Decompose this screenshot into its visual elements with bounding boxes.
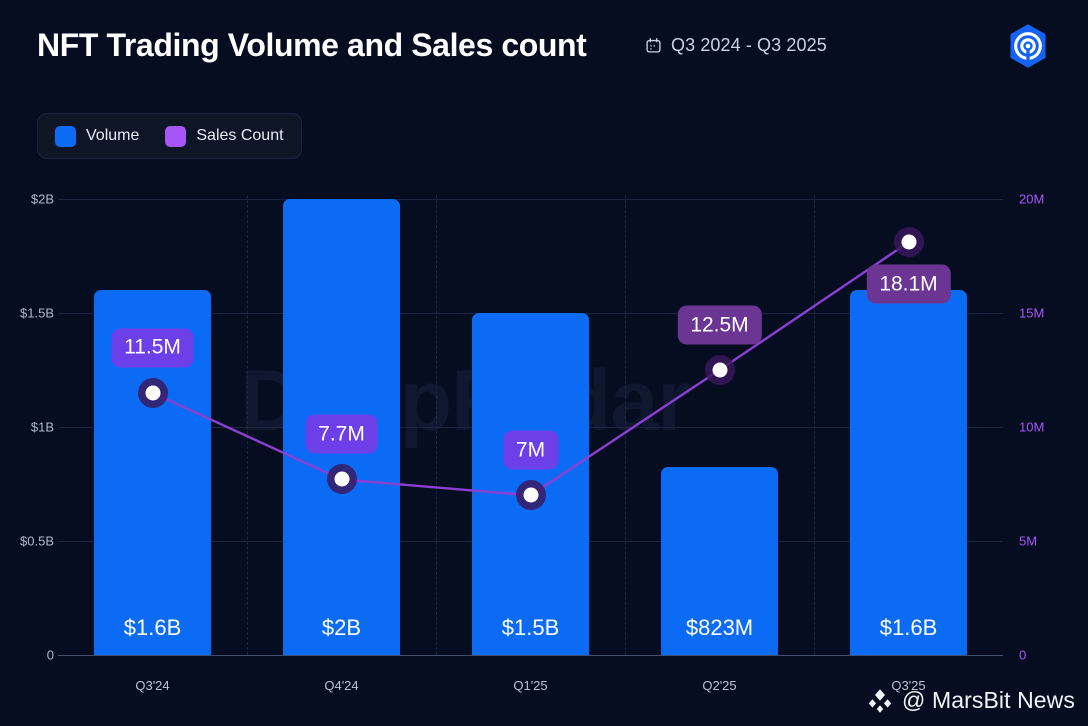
sales-count-point-label: 12.5M	[677, 306, 761, 345]
x-axis-label: Q3'24	[135, 678, 169, 693]
y-axis-left-tick: $1.5B	[20, 306, 54, 321]
line-marker-halo	[705, 355, 735, 385]
legend-item-sales-count[interactable]: Sales Count	[165, 126, 283, 147]
marsbit-diamond-icon	[866, 686, 894, 714]
y-axis-right-tick: 0	[1019, 648, 1026, 663]
chart-header: NFT Trading Volume and Sales count Q3 20…	[0, 0, 1088, 96]
column-separator	[814, 195, 815, 655]
sales-count-point-label: 11.5M	[111, 328, 194, 367]
x-axis-label: Q2'25	[702, 678, 736, 693]
legend-item-volume[interactable]: Volume	[55, 126, 139, 147]
bar-volume[interactable]	[94, 290, 211, 655]
x-axis-label: Q4'24	[324, 678, 358, 693]
bar-volume[interactable]	[661, 467, 778, 655]
sales-count-point-label: 7M	[503, 431, 558, 470]
line-series-sales-count	[0, 0, 1088, 726]
line-marker-halo	[138, 378, 168, 408]
column-separator	[247, 195, 248, 655]
date-range[interactable]: Q3 2024 - Q3 2025	[645, 35, 827, 56]
legend-label-sales-count: Sales Count	[196, 127, 283, 145]
gridline	[58, 541, 1003, 542]
background-watermark: DappRadar	[240, 352, 690, 451]
date-range-label: Q3 2024 - Q3 2025	[671, 35, 827, 56]
line-marker-halo	[516, 480, 546, 510]
line-marker[interactable]	[523, 488, 538, 503]
bar-value-label: $1.6B	[880, 615, 938, 641]
y-axis-right-tick: 15M	[1019, 306, 1044, 321]
calendar-icon	[645, 37, 662, 54]
legend-swatch-sales-count-icon	[165, 126, 186, 147]
watermark-label: @ MarsBit News	[902, 687, 1075, 714]
column-separator	[625, 195, 626, 655]
line-marker[interactable]	[901, 235, 916, 250]
y-axis-left-tick: $2B	[31, 192, 54, 207]
line-marker[interactable]	[145, 385, 160, 400]
y-axis-left-tick: 0	[47, 648, 54, 663]
gridline	[58, 199, 1003, 200]
y-axis-right-tick: 10M	[1019, 420, 1044, 435]
line-marker-halo	[894, 227, 924, 257]
bar-value-label: $1.6B	[124, 615, 182, 641]
gridline	[58, 655, 1003, 656]
page-title: NFT Trading Volume and Sales count	[37, 27, 586, 64]
y-axis-left-tick: $1B	[31, 420, 54, 435]
y-axis-right-tick: 5M	[1019, 534, 1037, 549]
bar-value-label: $823M	[686, 615, 753, 641]
sales-count-line	[153, 242, 909, 495]
marsbit-watermark: @ MarsBit News	[866, 686, 1075, 714]
x-axis-label: Q1'25	[513, 678, 547, 693]
bar-volume[interactable]	[283, 199, 400, 655]
legend-swatch-volume-icon	[55, 126, 76, 147]
bar-value-label: $2B	[322, 615, 361, 641]
y-axis-right-tick: 20M	[1019, 192, 1044, 207]
bar-volume[interactable]	[472, 313, 589, 655]
gridline	[58, 427, 1003, 428]
sales-count-point-label: 18.1M	[866, 265, 950, 304]
chart-legend: Volume Sales Count	[37, 113, 302, 159]
line-marker[interactable]	[334, 472, 349, 487]
sales-count-point-label: 7.7M	[305, 415, 378, 454]
column-separator	[436, 195, 437, 655]
chart-plot-area: DappRadar $1.6B$2B$1.5B$823M$1.6B 11.5M7…	[0, 0, 1088, 726]
line-marker[interactable]	[712, 363, 727, 378]
legend-label-volume: Volume	[86, 127, 139, 145]
bar-volume[interactable]	[850, 290, 967, 655]
bar-value-label: $1.5B	[502, 615, 560, 641]
line-marker-halo	[327, 464, 357, 494]
y-axis-left-tick: $0.5B	[20, 534, 54, 549]
gridline	[58, 313, 1003, 314]
